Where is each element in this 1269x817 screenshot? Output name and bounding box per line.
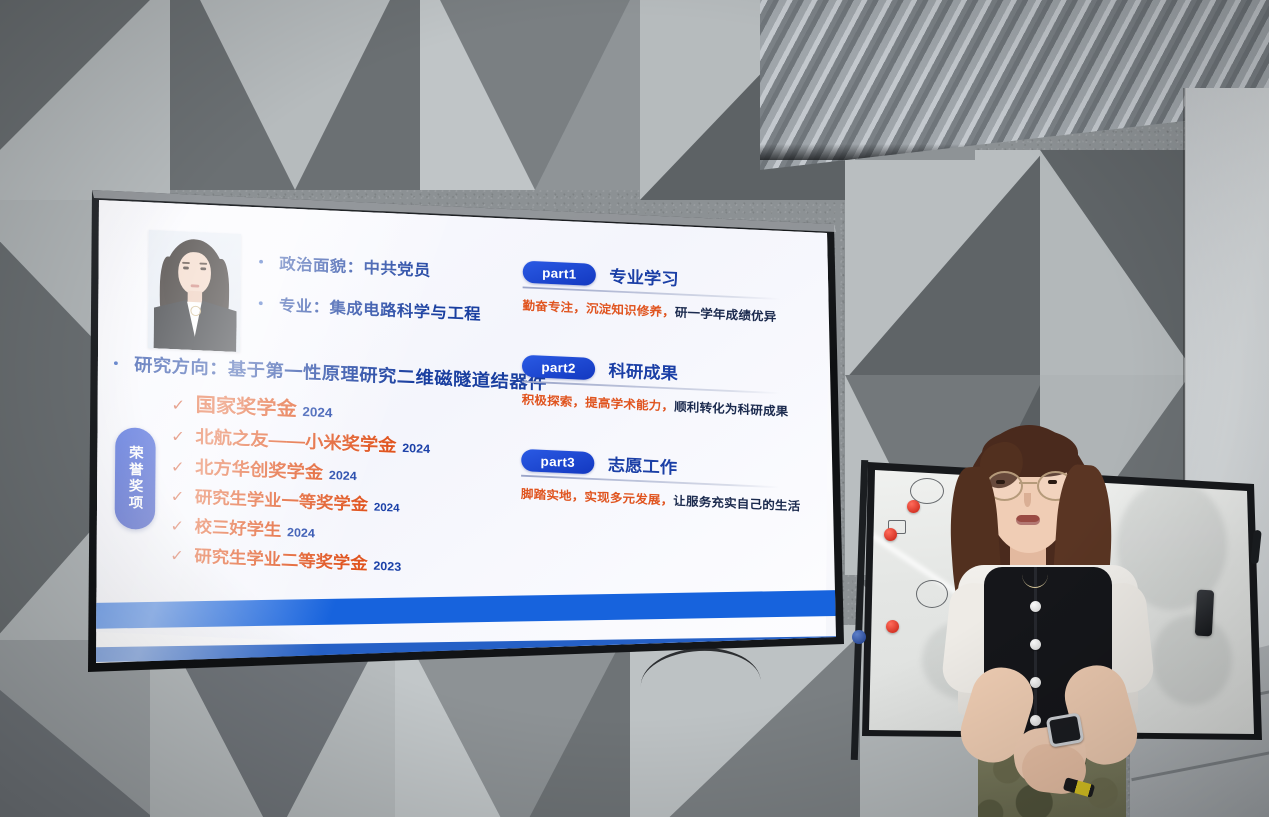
whiteboard-knob[interactable] — [852, 630, 866, 644]
magnet-icon[interactable] — [886, 620, 899, 633]
part-pill: part1 — [523, 261, 596, 286]
vest-button — [1030, 639, 1041, 650]
wall-mounted-display[interactable]: 政治面貌：中共党员 专业：集成电路科学与工程 研究方向：基于第一性原理研究二维磁… — [82, 176, 852, 676]
mouth — [1016, 515, 1040, 525]
award-year: 2024 — [329, 468, 357, 483]
whiteboard-eraser[interactable] — [1195, 590, 1214, 637]
awards-list: ✓ 国家奖学金2024 ✓ 北航之友——小米奖学金2024 ✓ 北方华创奖学金2… — [170, 389, 430, 583]
bullet-dot-icon — [259, 259, 263, 263]
part-title: 志愿工作 — [608, 452, 677, 479]
bullet-dot-icon — [259, 301, 263, 305]
tv-screen: 政治面貌：中共党员 专业：集成电路科学与工程 研究方向：基于第一性原理研究二维磁… — [82, 176, 852, 676]
magnet-icon[interactable] — [884, 528, 897, 541]
award-name: 研究生学业二等奖学金 — [194, 547, 367, 573]
award-year: 2024 — [287, 525, 315, 540]
smartwatch[interactable] — [1046, 712, 1085, 747]
magnet-icon[interactable] — [907, 500, 920, 513]
vest-button — [1030, 677, 1041, 688]
slide-content: 政治面貌：中共党员 专业：集成电路科学与工程 研究方向：基于第一性原理研究二维磁… — [94, 198, 829, 665]
presenter — [930, 415, 1170, 817]
check-icon: ✓ — [171, 488, 185, 504]
award-year: 2024 — [374, 500, 400, 514]
check-icon: ✓ — [171, 459, 185, 475]
check-icon: ✓ — [170, 548, 184, 564]
award-item: ✓ 研究生学业二等奖学金2023 — [170, 542, 429, 578]
honors-badge: 荣誉奖项 — [115, 427, 156, 530]
check-icon: ✓ — [170, 518, 184, 534]
check-icon: ✓ — [171, 428, 185, 444]
award-item: ✓ 北方华创奖学金2024 — [171, 452, 430, 489]
vest-button — [1030, 715, 1041, 726]
award-year: 2024 — [302, 404, 332, 420]
award-name: 校三好学生 — [195, 517, 282, 539]
profile-photo — [148, 230, 241, 352]
part-title: 科研成果 — [608, 358, 677, 385]
presentation-room-photo: 政治面貌：中共党员 专业：集成电路科学与工程 研究方向：基于第一性原理研究二维磁… — [0, 0, 1269, 817]
vest-button — [1030, 601, 1041, 612]
award-year: 2023 — [373, 559, 401, 574]
check-icon: ✓ — [171, 397, 185, 413]
award-item: ✓ 北航之友——小米奖学金2024 — [171, 422, 430, 459]
eye — [996, 480, 1005, 484]
award-name: 北方华创奖学金 — [195, 458, 323, 483]
bullet-dot-icon — [114, 361, 118, 365]
part-title: 专业学习 — [609, 264, 678, 291]
award-name: 北航之友——小米奖学金 — [195, 428, 396, 456]
award-name: 国家奖学金 — [196, 394, 297, 420]
part-pill: part3 — [521, 449, 594, 474]
part-pill: part2 — [522, 355, 595, 380]
eye — [1048, 480, 1057, 484]
necklace — [1022, 561, 1048, 588]
honors-badge-label: 荣誉奖项 — [115, 427, 156, 530]
award-name: 研究生学业一等奖学金 — [195, 488, 368, 514]
nose — [1024, 493, 1031, 507]
award-year: 2024 — [402, 441, 430, 456]
